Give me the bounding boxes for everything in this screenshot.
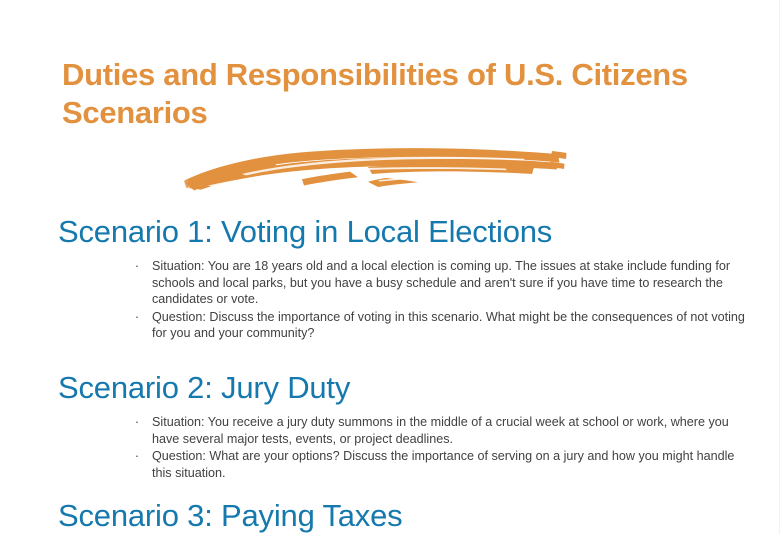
bullet-dot-icon: · — [132, 414, 142, 431]
list-item: · Situation: You receive a jury duty sum… — [58, 414, 750, 447]
section-scenario-1: Scenario 1: Voting in Local Elections · … — [58, 212, 750, 343]
section-heading: Scenario 2: Jury Duty — [58, 368, 750, 408]
list-item: · Question: What are your options? Discu… — [58, 448, 750, 481]
bullet-dot-icon: · — [132, 309, 142, 326]
bullet-list: · Situation: You receive a jury duty sum… — [58, 414, 750, 481]
list-item: · Question: Discuss the importance of vo… — [58, 309, 750, 342]
list-item: · Situation: You are 18 years old and a … — [58, 258, 750, 308]
bullet-list: · Situation: You are 18 years old and a … — [58, 258, 750, 342]
slide-canvas: Duties and Responsibilities of U.S. Citi… — [0, 0, 780, 534]
section-heading: Scenario 3: Paying Taxes — [58, 496, 750, 534]
section-scenario-2: Scenario 2: Jury Duty · Situation: You r… — [58, 368, 750, 482]
section-scenario-3: Scenario 3: Paying Taxes — [58, 496, 750, 534]
bullet-dot-icon: · — [132, 258, 142, 275]
brush-swoosh-decoration — [182, 143, 570, 199]
section-heading: Scenario 1: Voting in Local Elections — [58, 212, 750, 252]
title-block: Duties and Responsibilities of U.S. Citi… — [62, 56, 742, 132]
list-item-text: Situation: You are 18 years old and a lo… — [152, 259, 730, 306]
page-title: Duties and Responsibilities of U.S. Citi… — [62, 56, 742, 132]
bullet-dot-icon: · — [132, 448, 142, 465]
list-item-text: Question: What are your options? Discuss… — [152, 449, 734, 480]
list-item-text: Question: Discuss the importance of voti… — [152, 310, 745, 341]
list-item-text: Situation: You receive a jury duty summo… — [152, 415, 729, 446]
